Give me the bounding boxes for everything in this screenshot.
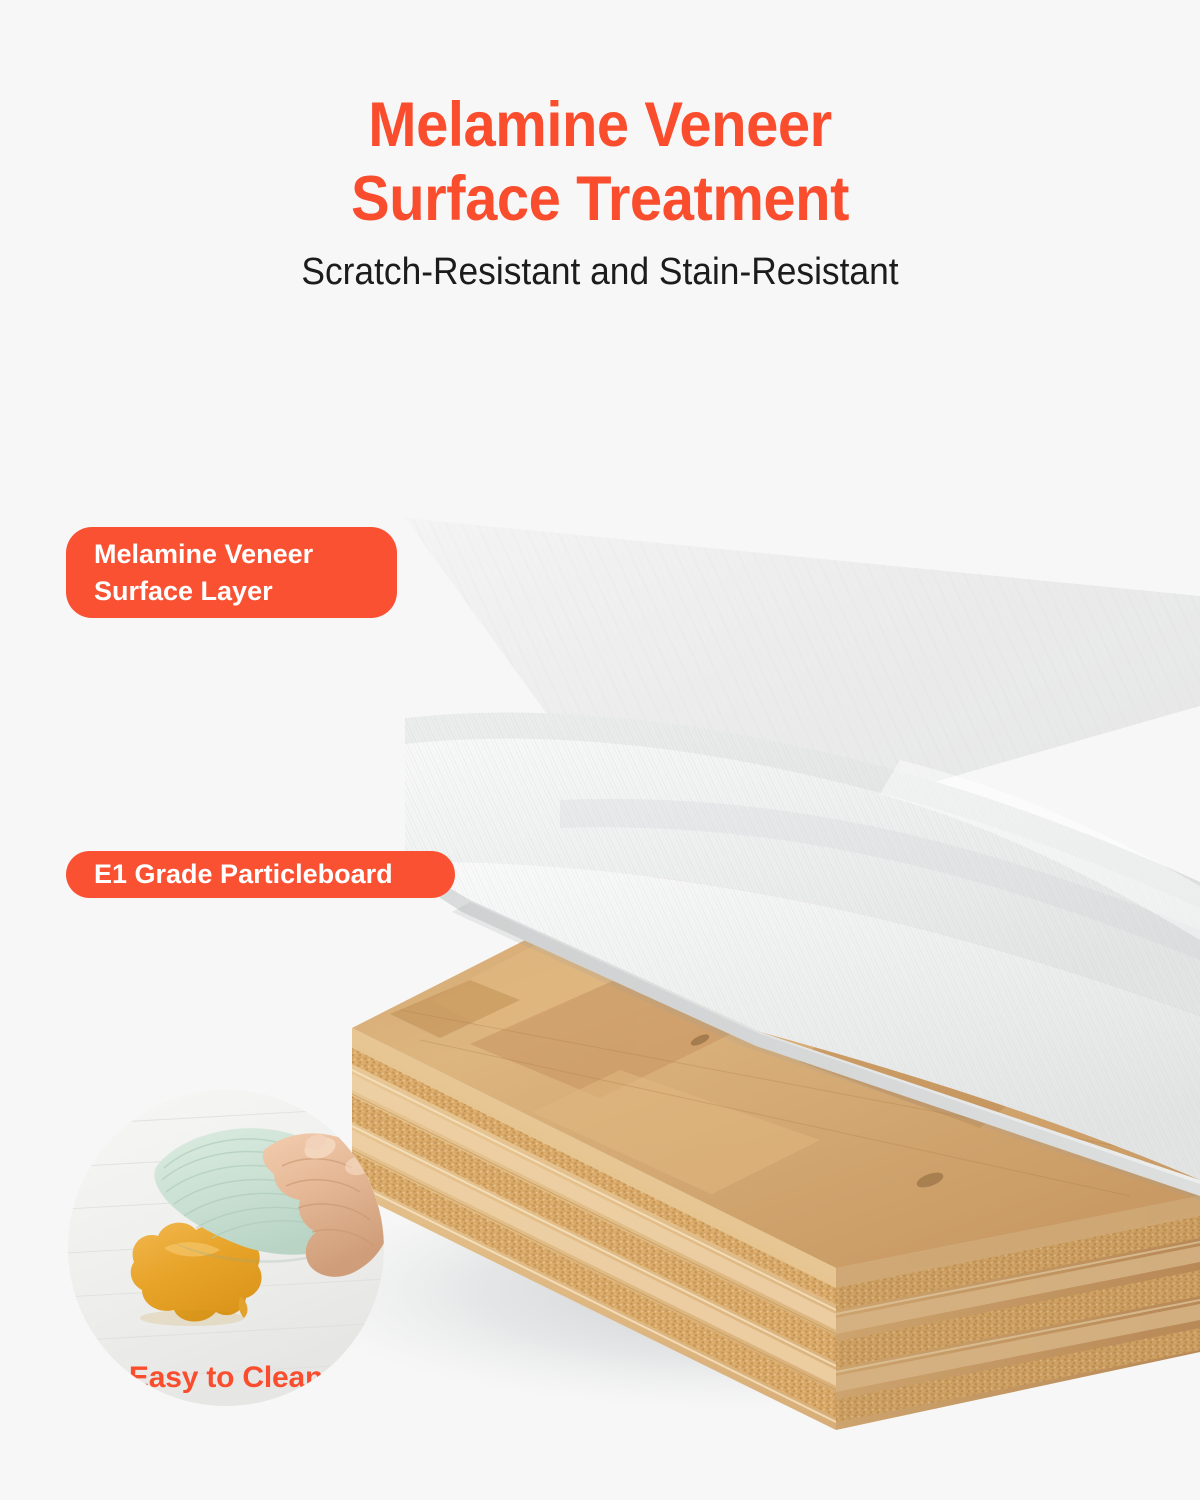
- badge-veneer-line-1: Melamine Veneer: [94, 536, 313, 572]
- easy-to-clean-inset: Easy to Clean: [68, 1090, 384, 1406]
- cleaning-illustration: [68, 1090, 384, 1406]
- badge-particleboard-label: E1 Grade Particleboard: [94, 860, 393, 890]
- title-line-1: Melamine Veneer: [48, 88, 1152, 162]
- callout-badge-particleboard[interactable]: E1 Grade Particleboard: [66, 851, 455, 898]
- callout-badge-veneer-layer[interactable]: Melamine Veneer Surface Layer: [66, 527, 397, 618]
- title-line-2: Surface Treatment: [48, 162, 1152, 236]
- page-title: Melamine Veneer Surface Treatment: [48, 88, 1152, 237]
- badge-veneer-line-2: Surface Layer: [94, 573, 313, 609]
- infographic-page: Melamine Veneer Surface Treatment Scratc…: [0, 0, 1200, 1500]
- page-subtitle: Scratch-Resistant and Stain-Resistant: [42, 251, 1158, 294]
- easy-to-clean-label: Easy to Clean: [68, 1361, 384, 1395]
- header: Melamine Veneer Surface Treatment Scratc…: [0, 0, 1200, 294]
